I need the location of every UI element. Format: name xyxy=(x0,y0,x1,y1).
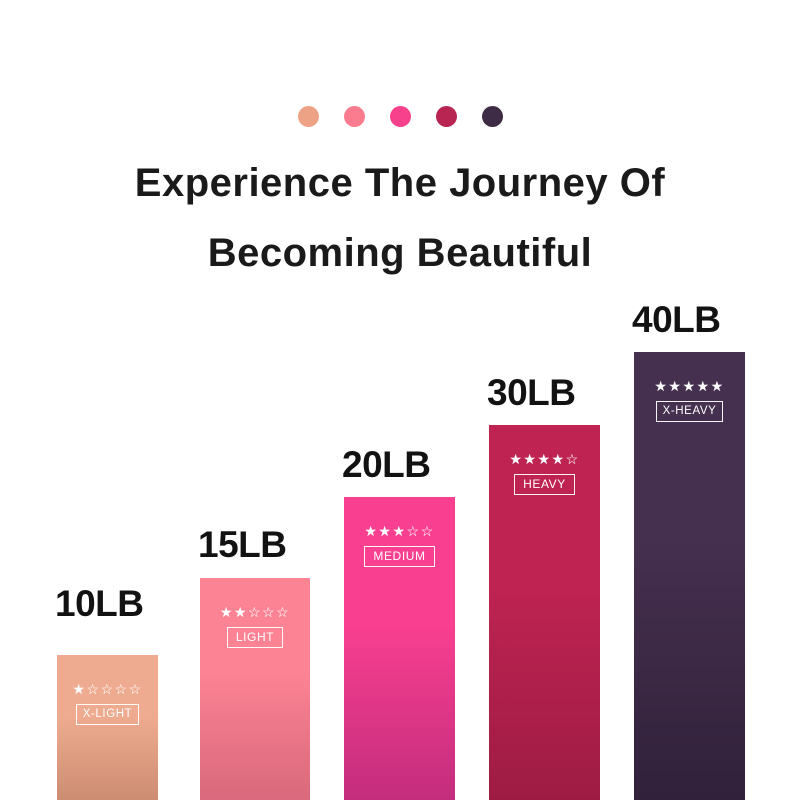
tier-badge: X-HEAVY xyxy=(656,401,724,422)
bar-content: ★★☆☆☆LIGHT xyxy=(200,604,310,648)
resistance-band-infographic: Experience The Journey Of Becoming Beaut… xyxy=(0,0,800,800)
bar-content: ★★★★☆HEAVY xyxy=(489,451,600,495)
bar-value-label: 30LB xyxy=(487,374,575,411)
tier-badge: MEDIUM xyxy=(364,546,434,567)
star-rating-icon: ★★★★☆ xyxy=(509,451,579,467)
bar-group-heavy[interactable]: 30LB★★★★☆HEAVY xyxy=(489,374,600,800)
bar-content: ★★★☆☆MEDIUM xyxy=(344,523,455,567)
bar-rect[interactable]: ★★☆☆☆LIGHT xyxy=(200,578,310,800)
bar-group-x-light[interactable]: 10LB★☆☆☆☆X-LIGHT xyxy=(57,585,158,800)
tier-badge: HEAVY xyxy=(514,474,575,495)
tier-badge: LIGHT xyxy=(227,627,283,648)
resistance-bar-chart: 10LB★☆☆☆☆X-LIGHT15LB★★☆☆☆LIGHT20LB★★★☆☆M… xyxy=(0,0,800,800)
bar-rect[interactable]: ★★★☆☆MEDIUM xyxy=(344,497,455,800)
bar-group-x-heavy[interactable]: 40LB★★★★★X-HEAVY xyxy=(634,301,745,800)
star-rating-icon: ★☆☆☆☆ xyxy=(72,681,142,697)
bar-rect[interactable]: ★★★★★X-HEAVY xyxy=(634,352,745,800)
bar-group-medium[interactable]: 20LB★★★☆☆MEDIUM xyxy=(344,446,455,800)
bar-content: ★☆☆☆☆X-LIGHT xyxy=(57,681,158,725)
bar-content: ★★★★★X-HEAVY xyxy=(634,378,745,422)
bar-group-light[interactable]: 15LB★★☆☆☆LIGHT xyxy=(200,526,310,800)
bar-rect[interactable]: ★★★★☆HEAVY xyxy=(489,425,600,800)
bar-value-label: 10LB xyxy=(55,585,143,622)
bar-rect[interactable]: ★☆☆☆☆X-LIGHT xyxy=(57,655,158,800)
star-rating-icon: ★★★☆☆ xyxy=(364,523,434,539)
bar-value-label: 15LB xyxy=(198,526,286,563)
bar-value-label: 20LB xyxy=(342,446,430,483)
star-rating-icon: ★★★★★ xyxy=(654,378,724,394)
tier-badge: X-LIGHT xyxy=(76,704,140,725)
star-rating-icon: ★★☆☆☆ xyxy=(220,604,290,620)
bar-value-label: 40LB xyxy=(632,301,720,338)
